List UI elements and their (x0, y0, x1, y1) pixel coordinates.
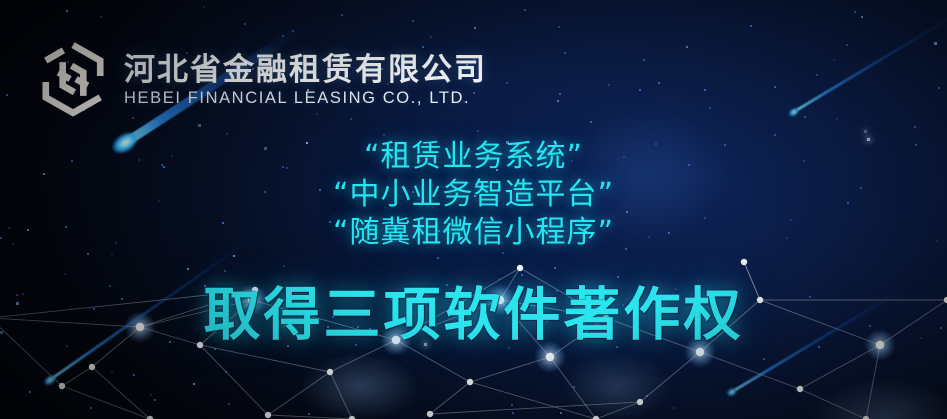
hexagon-interlock-logo-icon (36, 40, 110, 118)
subtitle-line-3: “随冀租微信小程序” (0, 214, 947, 252)
headline: 取得三项软件著作权 (0, 283, 947, 347)
subtitle-list: “租赁业务系统” “中小业务智造平台” “随冀租微信小程序” (0, 138, 947, 252)
company-name-cn: 河北省金融租赁有限公司 (124, 53, 487, 87)
banner-stage: 河北省金融租赁有限公司 HEBEI FINANCIAL LEASING CO.,… (0, 0, 947, 419)
subtitle-line-1: “租赁业务系统” (0, 138, 947, 176)
company-name-en: HEBEI FINANCIAL LEASING CO., LTD. (124, 89, 487, 108)
logo-text-block: 河北省金融租赁有限公司 HEBEI FINANCIAL LEASING CO.,… (124, 51, 487, 108)
meteor-tail (796, 0, 947, 111)
subtitle-line-2: “中小业务智造平台” (0, 176, 947, 214)
logo-block: 河北省金融租赁有限公司 HEBEI FINANCIAL LEASING CO.,… (36, 40, 487, 118)
